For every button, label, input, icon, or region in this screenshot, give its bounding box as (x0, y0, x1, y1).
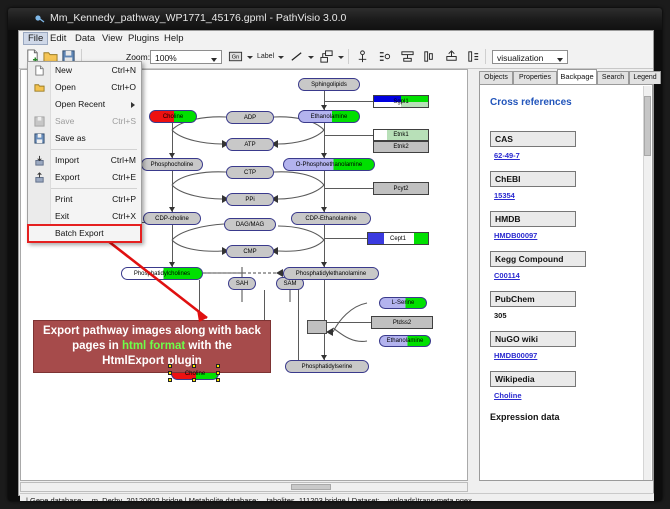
canvas-hscrollbar[interactable] (20, 482, 468, 492)
xref-value-wikipedia[interactable]: Choline (494, 391, 522, 400)
menu-item-open-recent[interactable]: Open Recent (28, 96, 141, 113)
datanode-dropdown-arrow[interactable] (247, 56, 253, 59)
submenu-arrow-icon (131, 102, 135, 108)
visualization-combo[interactable]: visualization (492, 50, 568, 64)
status-text: | Gene database: ...m_Derby_20120602.bri… (26, 496, 472, 501)
menu-help[interactable]: Help (160, 32, 188, 45)
shape-dropdown-arrow[interactable] (338, 56, 344, 59)
menu-item-label: Open (55, 82, 76, 92)
save-disk-icon (34, 116, 45, 127)
visualization-value: visualization (497, 53, 543, 63)
menu-item-label: New (55, 65, 72, 75)
tab-search[interactable]: Search (597, 71, 629, 84)
xref-value-cas[interactable]: 62-49-7 (494, 151, 520, 160)
chevron-down-icon (211, 58, 217, 62)
align-middle-icon[interactable] (422, 49, 437, 64)
line-dropdown-arrow[interactable] (308, 56, 314, 59)
xref-value-pubchem: 305 (494, 311, 507, 320)
xref-source-wikipedia: Wikipedia (490, 371, 576, 387)
svg-text:Gn: Gn (232, 54, 239, 60)
title-bar: Mm_Kennedy_pathway_WP1771_45176.gpml - P… (8, 8, 662, 30)
xref-value-hmdb[interactable]: HMDB00097 (494, 231, 537, 240)
menu-item-label: Import (55, 155, 79, 165)
anchor-icon[interactable] (355, 49, 370, 64)
canvas-hscroll-thumb[interactable] (291, 484, 331, 490)
menu-file[interactable]: File (23, 32, 48, 45)
menu-item-shortcut: Ctrl+E (112, 172, 136, 182)
new-document-icon (34, 65, 45, 76)
tab-legend[interactable]: Legend (629, 71, 661, 84)
menu-item-label: Save as (55, 133, 86, 143)
menu-item-shortcut: Ctrl+P (112, 194, 136, 204)
xref-source-pubchem: PubChem (490, 291, 576, 307)
save-as-icon (34, 133, 45, 144)
panel-vscrollbar[interactable] (643, 86, 651, 481)
import-icon (34, 155, 45, 166)
menu-item-batch-export[interactable]: Batch Export (28, 225, 141, 242)
menu-item-print[interactable]: Print Ctrl+P (28, 191, 141, 208)
menu-item-shortcut: Ctrl+S (112, 116, 136, 126)
menu-edit[interactable]: Edit (46, 32, 70, 45)
status-bar: | Gene database: ...m_Derby_20120602.bri… (20, 493, 654, 501)
window-title: Mm_Kennedy_pathway_WP1771_45176.gpml - P… (50, 12, 346, 24)
stack-icon[interactable] (466, 49, 481, 64)
menu-item-label: Batch Export (55, 228, 104, 238)
open-folder-icon (34, 82, 45, 93)
menu-bar: File Edit Data View Plugins Help (19, 31, 653, 47)
menu-item-label: Export (55, 172, 80, 182)
export-icon (34, 172, 45, 183)
label-dropdown-arrow[interactable] (278, 56, 284, 59)
tab-backpage[interactable]: Backpage (557, 69, 597, 84)
application-window: Mm_Kennedy_pathway_WP1771_45176.gpml - P… (8, 8, 662, 501)
menu-item-label: Print (55, 194, 72, 204)
menu-item-shortcut: Ctrl+M (111, 155, 136, 165)
file-menu-dropdown: New Ctrl+N Open Ctrl+O Open Recent Save … (27, 61, 142, 243)
xref-value-chebi[interactable]: 15354 (494, 191, 515, 200)
expression-data-title: Expression data (490, 412, 560, 422)
app-body: File Edit Data View Plugins Help Zoom: 1… (18, 30, 654, 496)
align-center-icon[interactable] (400, 49, 415, 64)
menu-item-label: Save (55, 116, 74, 126)
cross-references-title: Cross references (490, 97, 572, 108)
tab-properties[interactable]: Properties (513, 71, 557, 84)
panel-tabs: Objects Properties Backpage Search Legen… (479, 69, 653, 84)
menu-item-import[interactable]: Import Ctrl+M (28, 152, 141, 169)
menu-item-shortcut: Ctrl+O (111, 82, 136, 92)
xref-source-nugo: NuGO wiki (490, 331, 576, 347)
menu-item-open[interactable]: Open Ctrl+O (28, 79, 141, 96)
menu-plugins[interactable]: Plugins (124, 32, 163, 45)
toolbar-separator-3 (485, 49, 486, 64)
menu-data[interactable]: Data (71, 32, 99, 45)
menu-view[interactable]: View (98, 32, 126, 45)
xref-source-chebi: ChEBI (490, 171, 576, 187)
label-tool-label[interactable]: Label (257, 53, 274, 60)
toolbar-separator-2 (348, 49, 349, 64)
align-left-icon[interactable] (378, 49, 393, 64)
zoom-value: 100% (155, 53, 177, 63)
xref-source-hmdb: HMDB (490, 211, 576, 227)
screenshot-root: Mm_Kennedy_pathway_WP1771_45176.gpml - P… (0, 0, 670, 509)
menu-item-shortcut: Ctrl+N (112, 65, 136, 75)
menu-item-exit[interactable]: Exit Ctrl+X (28, 208, 141, 225)
menu-item-export[interactable]: Export Ctrl+E (28, 169, 141, 186)
backpage-panel: Cross references CAS 62-49-7 ChEBI 15354… (479, 84, 653, 481)
xref-value-kegg[interactable]: C00114 (494, 271, 520, 280)
chevron-down-icon (557, 58, 563, 62)
menu-item-new[interactable]: New Ctrl+N (28, 62, 141, 79)
line-icon[interactable] (289, 49, 304, 64)
xref-source-cas: CAS (490, 131, 576, 147)
tab-objects[interactable]: Objects (479, 71, 513, 84)
datanode-icon[interactable]: Gn (228, 49, 243, 64)
zoom-combo[interactable]: 100% (150, 50, 222, 64)
panel-vscroll-thumb[interactable] (644, 96, 651, 156)
menu-item-save: Save Ctrl+S (28, 113, 141, 130)
menu-item-save-as[interactable]: Save as (28, 130, 141, 147)
xref-source-kegg: Kegg Compound (490, 251, 586, 267)
pathvisio-icon (34, 13, 46, 25)
menu-item-shortcut: Ctrl+X (112, 211, 136, 221)
xref-value-nugo[interactable]: HMDB00097 (494, 351, 537, 360)
group-icon[interactable] (444, 49, 459, 64)
menu-item-label: Exit (55, 211, 69, 221)
menu-item-label: Open Recent (55, 99, 105, 109)
shape-icon[interactable] (319, 49, 334, 64)
side-panel: Objects Properties Backpage Search Legen… (471, 69, 653, 481)
